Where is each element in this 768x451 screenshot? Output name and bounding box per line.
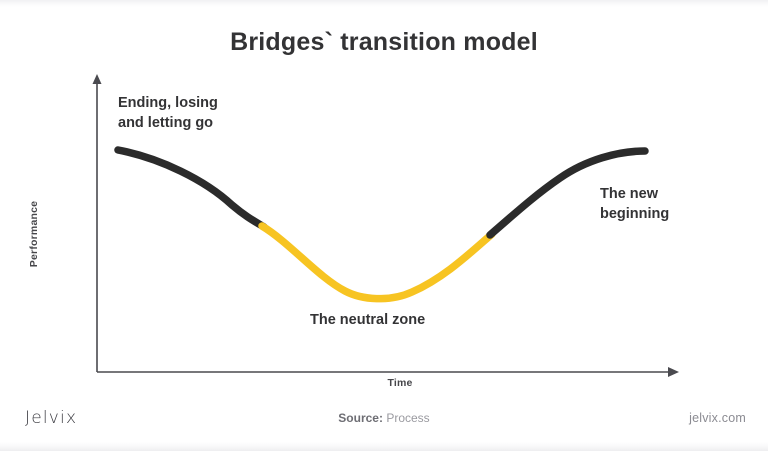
source-caption: Source: Process <box>0 411 768 425</box>
annotation-ending-line-2: and letting go <box>118 113 218 133</box>
x-axis-arrowhead-icon <box>668 367 679 377</box>
annotation-ending-losing: Ending, losing and letting go <box>118 93 218 133</box>
curve-segment-ending <box>118 150 264 227</box>
curve-segment-neutral-zone <box>262 226 492 299</box>
annotation-new-line-1: The new <box>600 184 669 204</box>
annotation-neutral-zone: The neutral zone <box>310 310 425 330</box>
x-axis-label: Time <box>340 377 460 389</box>
annotation-new-beginning: The new beginning <box>600 184 669 224</box>
annotation-ending-line-1: Ending, losing <box>118 93 218 113</box>
annotation-new-line-2: beginning <box>600 204 669 224</box>
source-label: Source: <box>338 411 383 425</box>
website-url: jelvix.com <box>689 411 746 425</box>
screenshot-canvas: Bridges` transition model Performance Ti… <box>0 0 768 451</box>
y-axis-label: Performance <box>28 174 40 294</box>
y-axis-arrowhead-icon <box>93 74 102 84</box>
source-value: Process <box>386 411 429 425</box>
